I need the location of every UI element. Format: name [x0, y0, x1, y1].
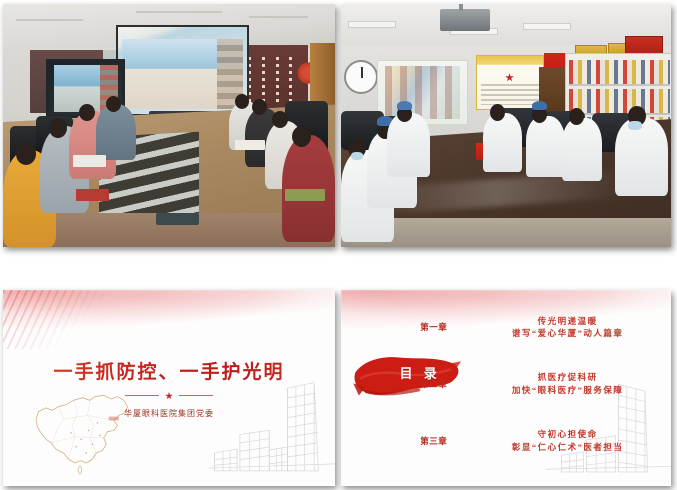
divider-line-right — [179, 395, 213, 396]
chapter-line-2: 谱写“爱心华厦”动人篇章 — [464, 327, 671, 340]
red-star-icon — [165, 392, 173, 400]
chapter-line-2: 彰显“仁心仁术”医者担当 — [464, 441, 671, 454]
staff-white-coat — [615, 118, 668, 196]
title-divider — [3, 392, 335, 400]
attendee-head — [292, 126, 311, 147]
city-skyline-icon — [209, 372, 335, 486]
notebook — [285, 189, 325, 201]
ceiling-projector — [440, 9, 490, 31]
photo-meeting-room-right — [341, 4, 671, 247]
ceiling-light-strip — [136, 11, 222, 13]
attendee-head — [16, 143, 36, 165]
chapter-line-1: 传光明递温暖 — [464, 315, 671, 328]
toc-row[interactable]: 第三章 守初心担使命 彰显“仁心仁术”医者担当 — [420, 428, 671, 454]
notebook — [76, 189, 109, 201]
chapter-text: 抓医疗促科研 加快“眼科医疗”服务保障 — [464, 371, 671, 397]
toc-row[interactable]: 第一章 传光明递温暖 谱写“爱心华厦”动人篇章 — [420, 315, 671, 341]
attendee — [96, 104, 136, 160]
ceiling-light — [348, 21, 396, 28]
ceiling-light — [523, 23, 571, 30]
slide-subtitle: 华厦眼科医院集团党委 — [3, 408, 335, 419]
staff-head — [490, 104, 505, 121]
staff-white-coat — [387, 113, 430, 176]
chapter-number: 第三章 — [420, 435, 458, 447]
tablet-device — [156, 213, 199, 225]
surgical-cap-icon — [397, 101, 412, 110]
slide-canvas: 目 录 第一章 传光明递温暖 谱写“爱心华厦”动人篇章 第二章 抓医疗促科研 加… — [341, 290, 671, 486]
slide-heading: 一手抓防控、一手护光明 — [3, 357, 335, 384]
toc-row[interactable]: 第二章 抓医疗促科研 加快“眼科医疗”服务保障 — [420, 371, 671, 397]
wall-calligraphy-plaques — [244, 57, 297, 106]
face-mask-icon — [628, 121, 642, 130]
attendee-head — [252, 99, 267, 115]
bookshelf-row — [569, 60, 670, 86]
ceiling-light-strip — [16, 19, 82, 21]
staff-white-coat — [483, 113, 523, 171]
contents-label: 目 录 — [384, 363, 457, 382]
red-star-icon — [505, 73, 514, 82]
room-scene-right — [341, 4, 671, 247]
room-scene-left — [3, 4, 335, 247]
slide-contents-page: 目 录 第一章 传光明递温暖 谱写“爱心华厦”动人篇章 第二章 抓医疗促科研 加… — [341, 290, 671, 486]
staff-white-coat — [526, 116, 566, 177]
bookshelf-row — [569, 89, 670, 115]
image-collage-grid: 一手抓防控、一手护光明 华厦眼科医院集团党委 — [0, 0, 677, 490]
chapter-text: 传光明递温暖 谱写“爱心华厦”动人篇章 — [464, 315, 671, 341]
projected-slide — [122, 39, 244, 109]
attendee-head — [79, 104, 95, 121]
chapter-number: 第一章 — [420, 321, 458, 333]
notebook — [73, 155, 106, 167]
staff-white-coat — [562, 118, 602, 181]
surgical-cap-icon — [532, 101, 547, 110]
watercolor-streaks — [3, 290, 103, 349]
table-of-contents: 第一章 传光明递温暖 谱写“爱心华厦”动人篇章 第二章 抓医疗促科研 加快“眼科… — [420, 308, 671, 480]
chapter-text: 守初心担使命 彰显“仁心仁术”医者担当 — [464, 428, 671, 454]
chapter-line-1: 抓医疗促科研 — [464, 371, 671, 384]
divider-line-left — [125, 395, 159, 396]
slide-title-page: 一手抓防控、一手护光明 华厦眼科医院集团党委 — [3, 290, 335, 486]
notebook — [235, 140, 265, 150]
attendee-head — [272, 111, 288, 128]
wall-clock-icon — [344, 60, 378, 94]
chapter-line-2: 加快“眼科医疗”服务保障 — [464, 384, 671, 397]
slide-canvas: 一手抓防控、一手护光明 华厦眼科医院集团党委 — [3, 290, 335, 486]
ceiling-light-strip — [249, 16, 309, 18]
photo-meeting-room-left — [3, 4, 335, 247]
projection-screen — [116, 25, 249, 116]
face-mask-icon — [351, 152, 363, 160]
poster-text-block — [481, 84, 539, 105]
chapter-line-1: 守初心担使命 — [464, 428, 671, 441]
